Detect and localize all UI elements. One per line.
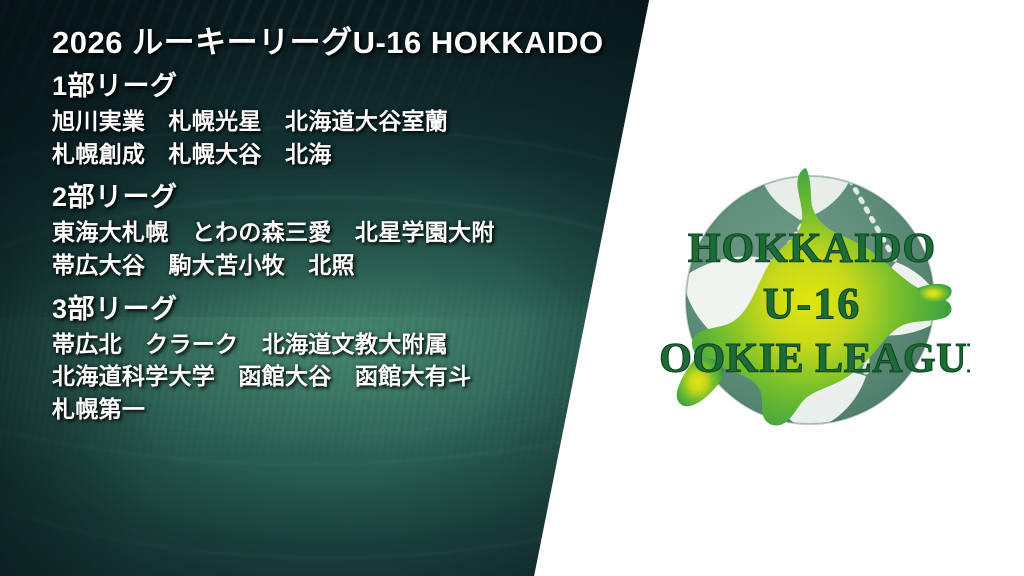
division-section-3: 3部リーグ 帯広北 クラーク 北海道文教大附属 北海道科学大学 函館大谷 函館大… — [52, 292, 652, 426]
page-title: 2026 ルーキーリーグU-16 HOKKAIDO — [52, 24, 652, 63]
division-3-team-row: 札幌第一 — [52, 393, 652, 426]
division-2-team-row: 東海大札幌 とわの森三愛 北星学園大附 — [52, 216, 652, 249]
division-1-team-row: 札幌創成 札幌大谷 北海 — [52, 138, 652, 171]
division-2-title: 2部リーグ — [52, 180, 652, 215]
logo-text-hokkaido: HOKKAIDO — [688, 226, 936, 272]
league-logo: HOKKAIDO U-16 ROOKIE LEAGUE — [660, 150, 970, 440]
logo-text-rookie-league: ROOKIE LEAGUE — [660, 336, 970, 382]
division-1-title: 1部リーグ — [52, 69, 652, 104]
division-2-team-row: 帯広大谷 駒大苫小牧 北照 — [52, 249, 652, 282]
division-3-team-row: 北海道科学大学 函館大谷 函館大有斗 — [52, 360, 652, 393]
division-3-title: 3部リーグ — [52, 292, 652, 327]
league-info-block: 2026 ルーキーリーグU-16 HOKKAIDO 1部リーグ 旭川実業 札幌光… — [52, 24, 652, 426]
slide-root: 2026 ルーキーリーグU-16 HOKKAIDO 1部リーグ 旭川実業 札幌光… — [0, 0, 1024, 576]
logo-text-u16: U-16 — [763, 279, 861, 328]
division-1-team-row: 旭川実業 札幌光星 北海道大谷室蘭 — [52, 105, 652, 138]
division-section-2: 2部リーグ 東海大札幌 とわの森三愛 北星学園大附 帯広大谷 駒大苫小牧 北照 — [52, 180, 652, 281]
division-section-1: 1部リーグ 旭川実業 札幌光星 北海道大谷室蘭 札幌創成 札幌大谷 北海 — [52, 69, 652, 170]
division-3-team-row: 帯広北 クラーク 北海道文教大附属 — [52, 328, 652, 361]
